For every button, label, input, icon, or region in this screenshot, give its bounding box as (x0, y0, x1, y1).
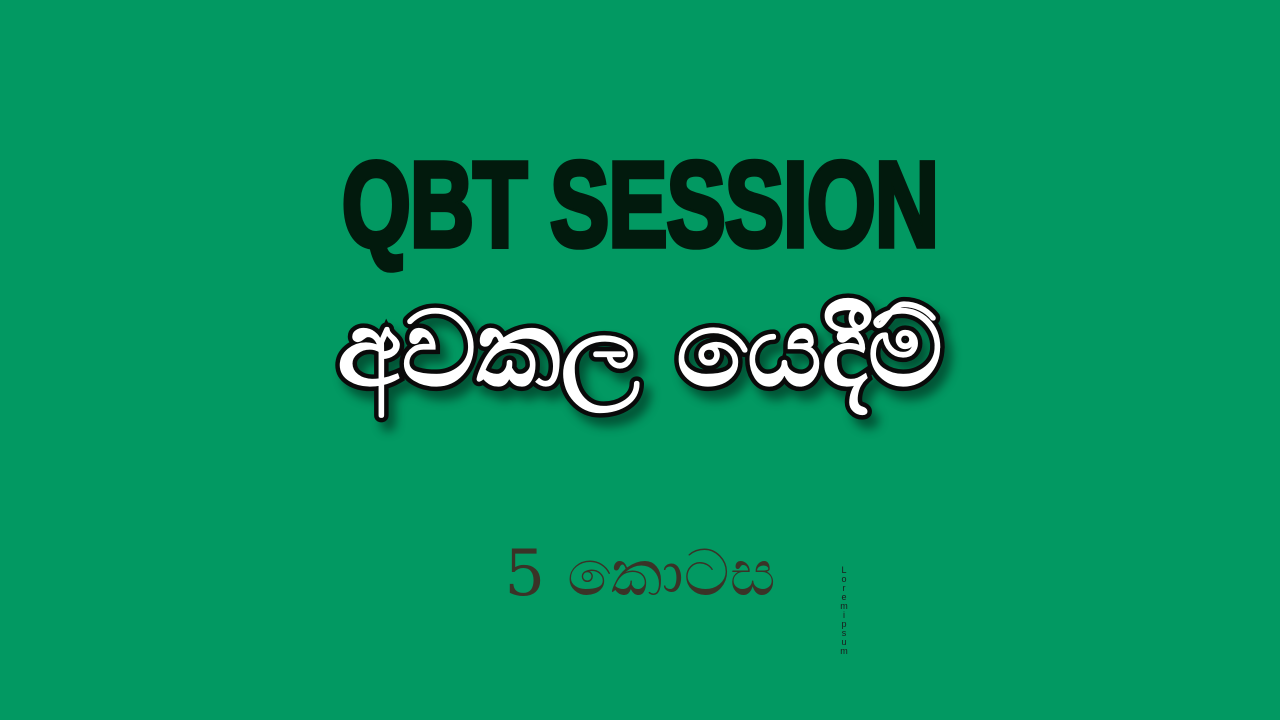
part-number: 5 (504, 537, 545, 611)
part-label: 5කොටස (0, 534, 1280, 614)
watermark-vertical-text: L o r e m i p s u m (836, 566, 852, 656)
watermark-letter: m (836, 647, 852, 656)
subtitle-container: අවකල යෙදීම් (0, 286, 1280, 413)
part-word: කොටස (567, 537, 776, 611)
subtitle-text: අවකල යෙදීම් (337, 286, 942, 413)
page-title: QBT SESSION (115, 144, 1165, 265)
slide-canvas: QBT SESSION අවකල යෙදීම් 5කොටස L o r e m … (0, 0, 1280, 720)
